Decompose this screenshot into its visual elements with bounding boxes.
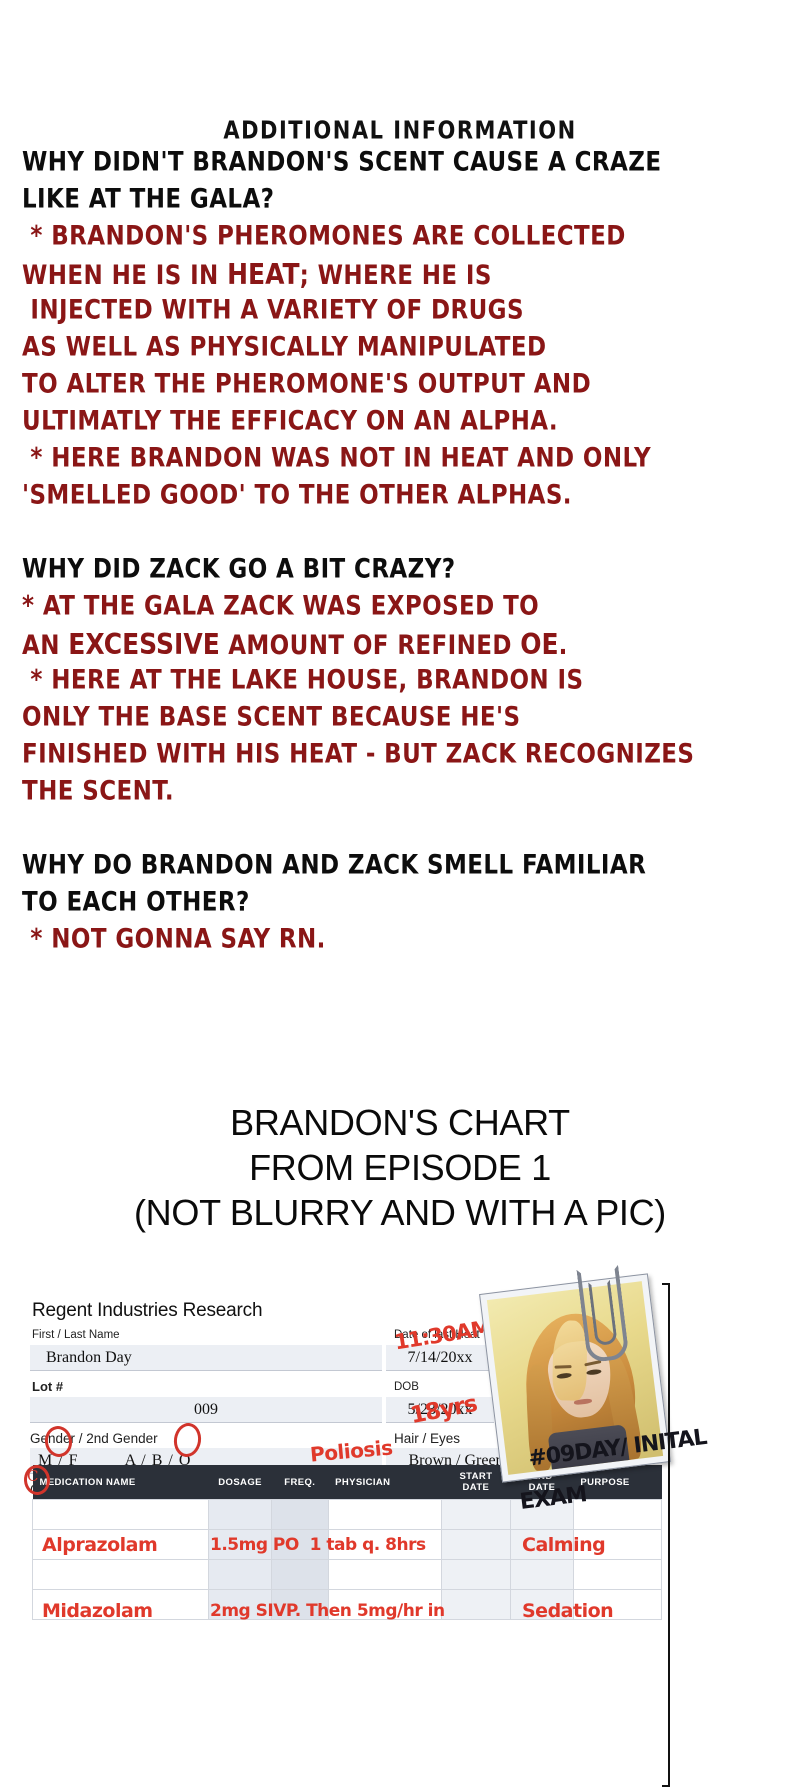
paragraph-spacer [0,808,800,845]
medication-cell[interactable] [328,1560,441,1590]
answer-text: * AT THE GALA ZACK WAS EXPOSED TO [22,592,539,622]
first-last-name-label: First / Last Name [32,1329,120,1341]
question-line: WHY DID ZACK GO A BIT CRAZY? [22,549,790,591]
answer-text: INJECTED WITH A VARIETY OF DRUGS [22,296,524,326]
photo-eyebrow-left [555,1365,572,1369]
medication-cell[interactable] [209,1500,272,1530]
answer-text: * HERE AT THE LAKE HOUSE, BRANDON IS [22,666,583,696]
medication-cell[interactable] [33,1590,209,1620]
answer-text: ; WHERE HE IS [300,261,492,291]
hair-eyes-label: Hair / Eyes [394,1431,460,1446]
answer-line: ULTIMATLY THE EFFICACY ON AN ALPHA. [22,401,790,443]
answer-line: ONLY THE BASE SCENT BECAUSE HE'S [22,697,790,739]
question-line: WHY DIDN'T BRANDON'S SCENT CAUSE A CRAZE [22,142,790,184]
medication-cell[interactable] [209,1590,272,1620]
medication-cell[interactable] [272,1500,329,1530]
medication-cell[interactable] [209,1530,272,1560]
medication-cell[interactable] [328,1530,441,1560]
page-title: ADDITIONAL INFORMATION [0,116,800,144]
th-medication-name: MEDICATION NAME [33,1465,209,1500]
th-physician: PHYSICIAN [328,1465,441,1500]
answer-line: AS WELL AS PHYSICALLY MANIPULATED [22,327,790,369]
chart-heading: BRANDON'S CHART FROM EPISODE 1 (NOT BLUR… [0,1100,800,1235]
answer-line: TO ALTER THE PHEROMONE'S OUTPUT AND [22,364,790,406]
answer-text: FINISHED WITH HIS HEAT - BUT ZACK RECOGN… [22,740,694,770]
th-dosage: DOSAGE [209,1465,272,1500]
qa-block: WHY DID ZACK GO A BIT CRAZY?* AT THE GAL… [22,549,790,808]
medication-cell[interactable] [511,1590,574,1620]
answer-text: * HERE BRANDON WAS NOT IN HEAT AND ONLY [22,444,651,474]
chart-heading-line-1: BRANDON'S CHART [0,1100,800,1145]
answer-text: TO ALTER THE PHEROMONE'S OUTPUT AND [22,370,591,400]
photo-hair-highlight [552,1320,587,1401]
answer-text: WHEN HE IS IN [22,261,227,291]
dob-field[interactable]: 5/23/20xx [386,1397,494,1423]
answer-line: INJECTED WITH A VARIETY OF DRUGS [22,290,790,332]
lot-number-label: Lot # [32,1379,63,1394]
answer-text: * BRANDON'S PHEROMONES ARE COLLECTED [22,222,626,252]
form-sheet: Regent Industries Research First / Last … [22,1283,667,1783]
medication-cell[interactable] [33,1500,209,1530]
answer-text: AS WELL AS PHYSICALLY MANIPULATED [22,333,547,363]
qa-container: WHY DIDN'T BRANDON'S SCENT CAUSE A CRAZE… [0,142,800,956]
answer-text: ULTIMATLY THE EFFICACY ON AN ALPHA. [22,407,558,437]
answer-text: AMOUNT OF REFINED [220,631,521,661]
answer-emphasis: HEAT [227,258,299,291]
answer-text: . [559,631,568,661]
handwritten-photo-caption: #09DAY/ INITAL EXAM [485,1406,718,1558]
answer-emphasis: OE [520,628,558,661]
answer-line: WHEN HE IS IN HEAT; WHERE HE IS [22,253,790,295]
answer-text: ONLY THE BASE SCENT BECAUSE HE'S [22,703,520,733]
chart-heading-line-2: FROM EPISODE 1 [0,1145,800,1190]
photo-caption-line-2: EXAM [519,1469,713,1513]
notes-section: ADDITIONAL INFORMATION WHY DIDN'T BRANDO… [0,0,800,956]
medical-chart-form: Regent Industries Research First / Last … [0,1283,800,1783]
answer-line: * HERE AT THE LAKE HOUSE, BRANDON IS [22,660,790,702]
medication-cell[interactable] [328,1590,441,1620]
medication-cell[interactable] [272,1530,329,1560]
answer-text: * NOT GONNA SAY RN. [22,925,326,955]
answer-line: 'SMELLED GOOD' TO THE OTHER ALPHAS. [22,475,790,517]
handwritten-c-label: C [27,1467,38,1485]
medication-cell[interactable] [33,1530,209,1560]
lot-number-field[interactable]: 009 [30,1397,382,1423]
answer-text: 'SMELLED GOOD' TO THE OTHER ALPHAS. [22,481,572,511]
answer-text: AN [22,631,68,661]
qa-block: WHY DO BRANDON AND ZACK SMELL FAMILIARTO… [22,845,790,956]
medication-cell[interactable] [441,1590,510,1620]
dob-label: DOB [394,1381,419,1393]
medication-row[interactable] [33,1590,662,1620]
answer-line: * HERE BRANDON WAS NOT IN HEAT AND ONLY [22,438,790,480]
answer-line: * NOT GONNA SAY RN. [22,919,790,961]
photo-caption-line-1: #09DAY/ INITAL [527,1425,708,1472]
medication-cell[interactable] [328,1500,441,1530]
qa-block: WHY DIDN'T BRANDON'S SCENT CAUSE A CRAZE… [22,142,790,512]
th-freq: FREQ. [272,1465,329,1500]
medication-cell[interactable] [573,1590,661,1620]
first-last-name-field[interactable]: Brandon Day [30,1345,382,1371]
medication-cell[interactable] [209,1560,272,1590]
medication-cell[interactable] [33,1560,209,1590]
medication-row[interactable] [33,1560,662,1590]
medication-cell[interactable] [272,1590,329,1620]
medication-cell[interactable] [441,1560,510,1590]
answer-line: AN EXCESSIVE AMOUNT OF REFINED OE. [22,623,790,665]
question-line: TO EACH OTHER? [22,882,790,924]
medication-cell[interactable] [511,1560,574,1590]
answer-line: THE SCENT. [22,771,790,813]
paragraph-spacer [0,512,800,549]
medication-cell[interactable] [573,1560,661,1590]
answer-line: * AT THE GALA ZACK WAS EXPOSED TO [22,586,790,628]
answer-line: FINISHED WITH HIS HEAT - BUT ZACK RECOGN… [22,734,790,776]
date-of-last-heat-label: Date of last Heat [394,1329,480,1341]
question-line: WHY DO BRANDON AND ZACK SMELL FAMILIAR [22,845,790,887]
answer-text: THE SCENT. [22,777,174,807]
answer-emphasis: EXCESSIVE [68,628,220,661]
question-line: LIKE AT THE GALA? [22,179,790,221]
chart-heading-line-3: (NOT BLURRY AND WITH A PIC) [0,1190,800,1235]
answer-line: * BRANDON'S PHEROMONES ARE COLLECTED [22,216,790,258]
organization-name: Regent Industries Research [32,1300,262,1322]
date-of-last-heat-field[interactable]: 7/14/20xx [386,1345,494,1371]
medication-cell[interactable] [272,1560,329,1590]
